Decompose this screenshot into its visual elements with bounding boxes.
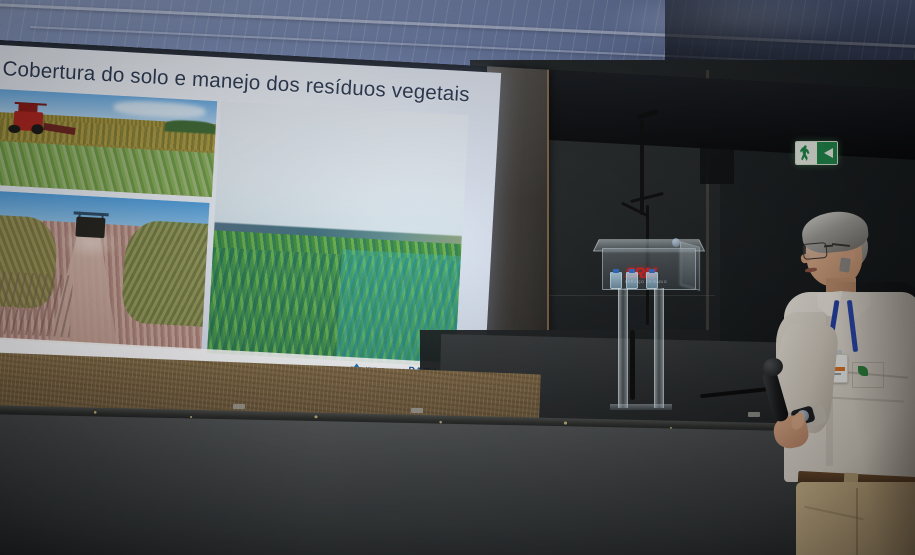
water-bottle xyxy=(626,272,638,289)
trouser-seam xyxy=(856,488,858,555)
presenter xyxy=(770,212,915,555)
image-vegetation-right xyxy=(121,219,209,327)
podium-leg xyxy=(618,288,628,408)
tractor-body xyxy=(75,216,106,238)
bottle-cap xyxy=(649,269,655,273)
image-crop-rows xyxy=(0,270,73,337)
acrylic-podium: SRM SERVIÇO DE RÁDIO xyxy=(596,236,700,288)
sideburn xyxy=(839,257,851,272)
water-bottle xyxy=(610,272,622,289)
slide-image-tractor-in-corn-field xyxy=(0,88,217,197)
podium-base xyxy=(610,404,672,410)
shirt-logo-icon xyxy=(858,366,868,376)
arrow-icon xyxy=(824,148,833,158)
water-bottle xyxy=(646,272,658,289)
presentation-scene: Cobertura do solo e manejo dos resíduos … xyxy=(0,0,915,555)
shirt-pocket xyxy=(852,362,884,388)
bottle-cap xyxy=(613,269,619,273)
floor-cable xyxy=(630,330,635,400)
stage-bolt xyxy=(233,404,245,409)
column-rim xyxy=(547,70,549,370)
bottle-cap xyxy=(629,269,635,273)
podium-leg xyxy=(654,288,664,408)
stage-bolt xyxy=(748,412,760,417)
slide-image-green-cover-crop-field xyxy=(207,101,469,366)
stage-bolt xyxy=(411,408,423,413)
slide-image-tractor-on-crop-residue xyxy=(0,190,209,350)
emergency-exit-sign xyxy=(795,141,838,165)
exit-sign-panel-left xyxy=(796,142,817,164)
tractor-wheel xyxy=(8,124,20,133)
wall-cable xyxy=(640,120,644,215)
tractor-wheel xyxy=(31,124,43,135)
